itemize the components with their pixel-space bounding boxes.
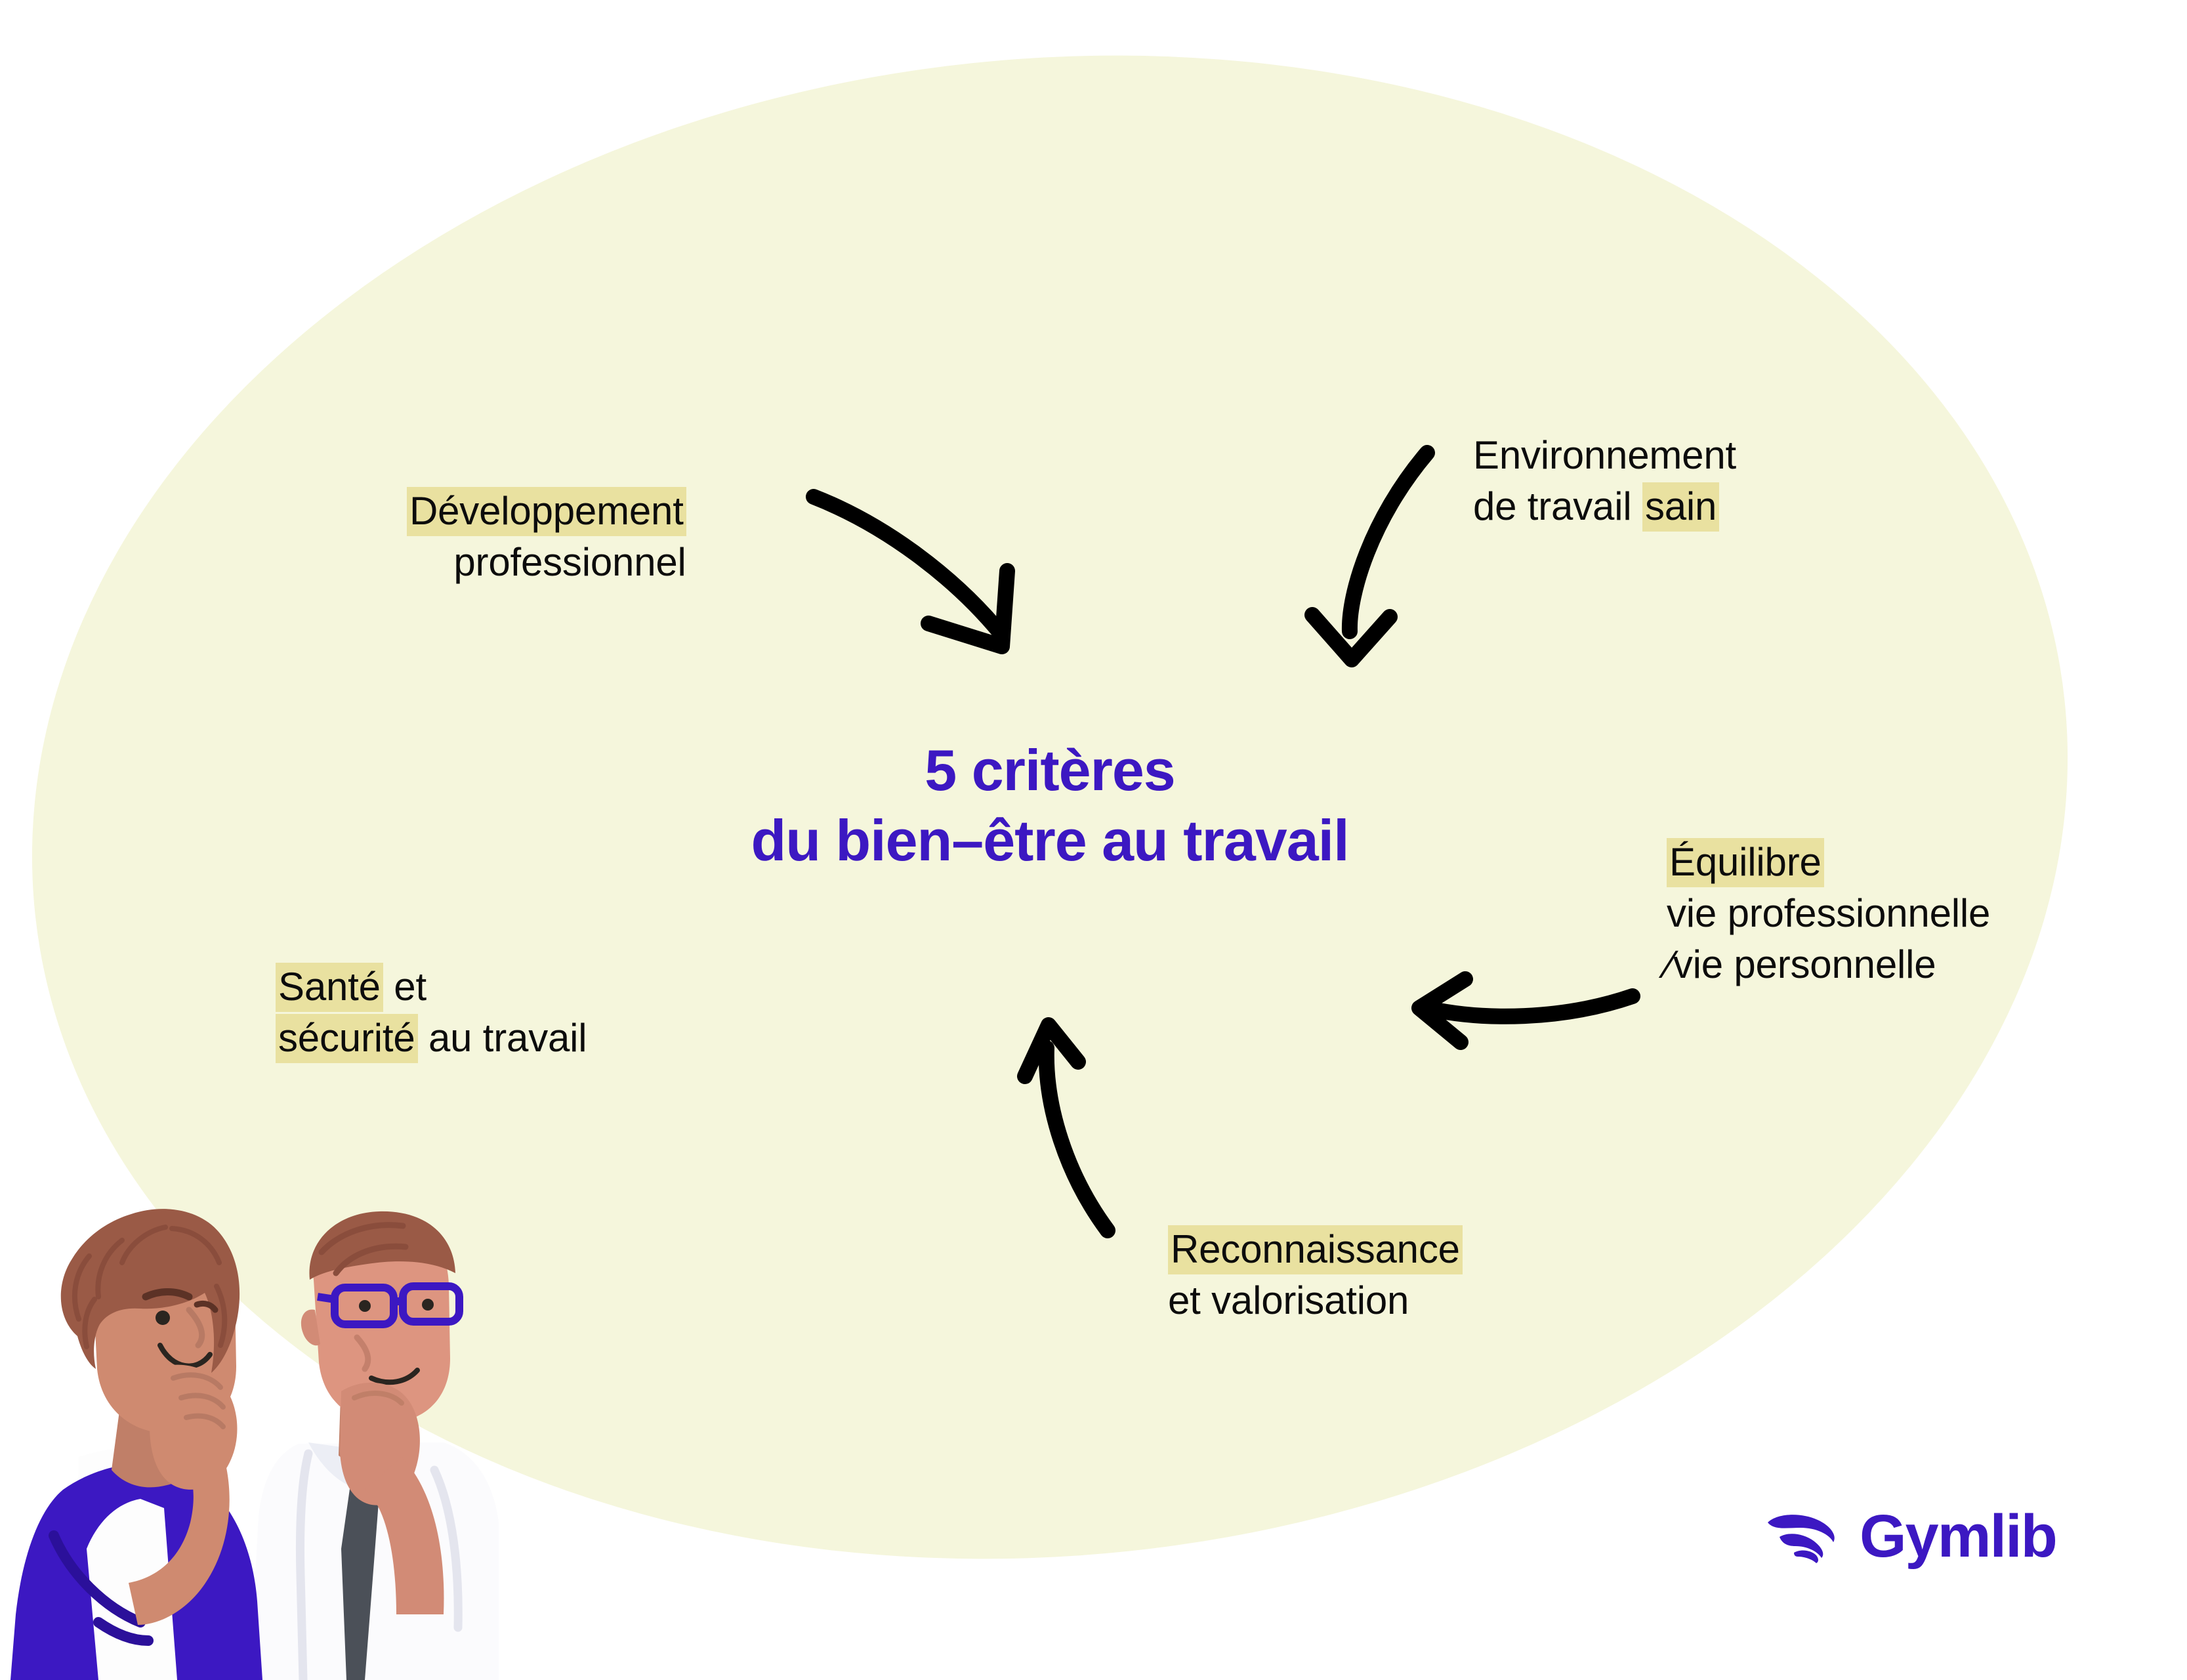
criterion-line-1: Développement — [407, 486, 686, 537]
criterion-line-2: sécurité au travail — [276, 1013, 587, 1064]
person-right — [249, 1211, 499, 1680]
criterion-label-reconnaissance-et-valorisation: Reconnaissance et valorisation — [1168, 1224, 1463, 1326]
arrow-reconnaissance-to-center-icon — [1025, 1025, 1108, 1230]
gymlib-wing-icon — [1765, 1508, 1843, 1564]
criterion-line-2-highlight: sécurité — [276, 1014, 418, 1063]
gymlib-wordmark: Gymlib — [1860, 1506, 2056, 1566]
page-title: 5 critères du bien–être au travail — [577, 735, 1522, 876]
criterion-line-2-plain: de travail — [1473, 484, 1642, 528]
criterion-line-2: vie professionnelle — [1667, 888, 1990, 939]
criterion-line-2-plain: au travail — [418, 1016, 587, 1060]
criterion-label-equilibre-vie-pro-vie-perso: Équilibre vie professionnelle ∕vie perso… — [1667, 837, 1990, 990]
criterion-line-1-plain: et — [383, 965, 427, 1009]
criterion-line-1: Environnement — [1473, 430, 1736, 481]
arrow-environnement-to-center-icon — [1312, 453, 1427, 660]
infographic-canvas: Développement professionnel Environnemen… — [0, 0, 2187, 1680]
arrow-developpement-to-center-icon — [814, 497, 1007, 646]
criterion-line-2: professionnel — [407, 537, 686, 588]
page-title-line-1: 5 critères — [577, 735, 1522, 805]
page-title-line-2: du bien–être au travail — [577, 805, 1522, 875]
criterion-line-1-highlight: Santé — [276, 963, 383, 1012]
gymlib-logo[interactable]: Gymlib — [1765, 1506, 2056, 1566]
criterion-label-developpement-professionnel: Développement professionnel — [407, 486, 686, 588]
person-left-eye — [156, 1311, 170, 1325]
criterion-line-1: Reconnaissance — [1168, 1224, 1463, 1275]
criterion-label-environnement-de-travail-sain: Environnement de travail sain — [1473, 430, 1736, 532]
person-right-eye-left — [359, 1300, 371, 1312]
criterion-line-2: de travail sain — [1473, 481, 1736, 532]
criterion-line-3: ∕vie personnelle — [1667, 939, 1990, 990]
person-right-eye-right — [422, 1299, 434, 1311]
person-left — [10, 1209, 262, 1680]
criterion-label-sante-et-securite-au-travail: Santé et sécurité au travail — [276, 961, 587, 1064]
criterion-line-2: et valorisation — [1168, 1275, 1463, 1326]
two-people-thinking-illustration — [0, 1181, 499, 1680]
criterion-line-1: Équilibre — [1667, 837, 1990, 888]
criterion-line-1: Santé et — [276, 961, 587, 1013]
criterion-line-2-highlight: sain — [1642, 482, 1719, 532]
arrow-equilibre-to-center-icon — [1419, 979, 1633, 1042]
